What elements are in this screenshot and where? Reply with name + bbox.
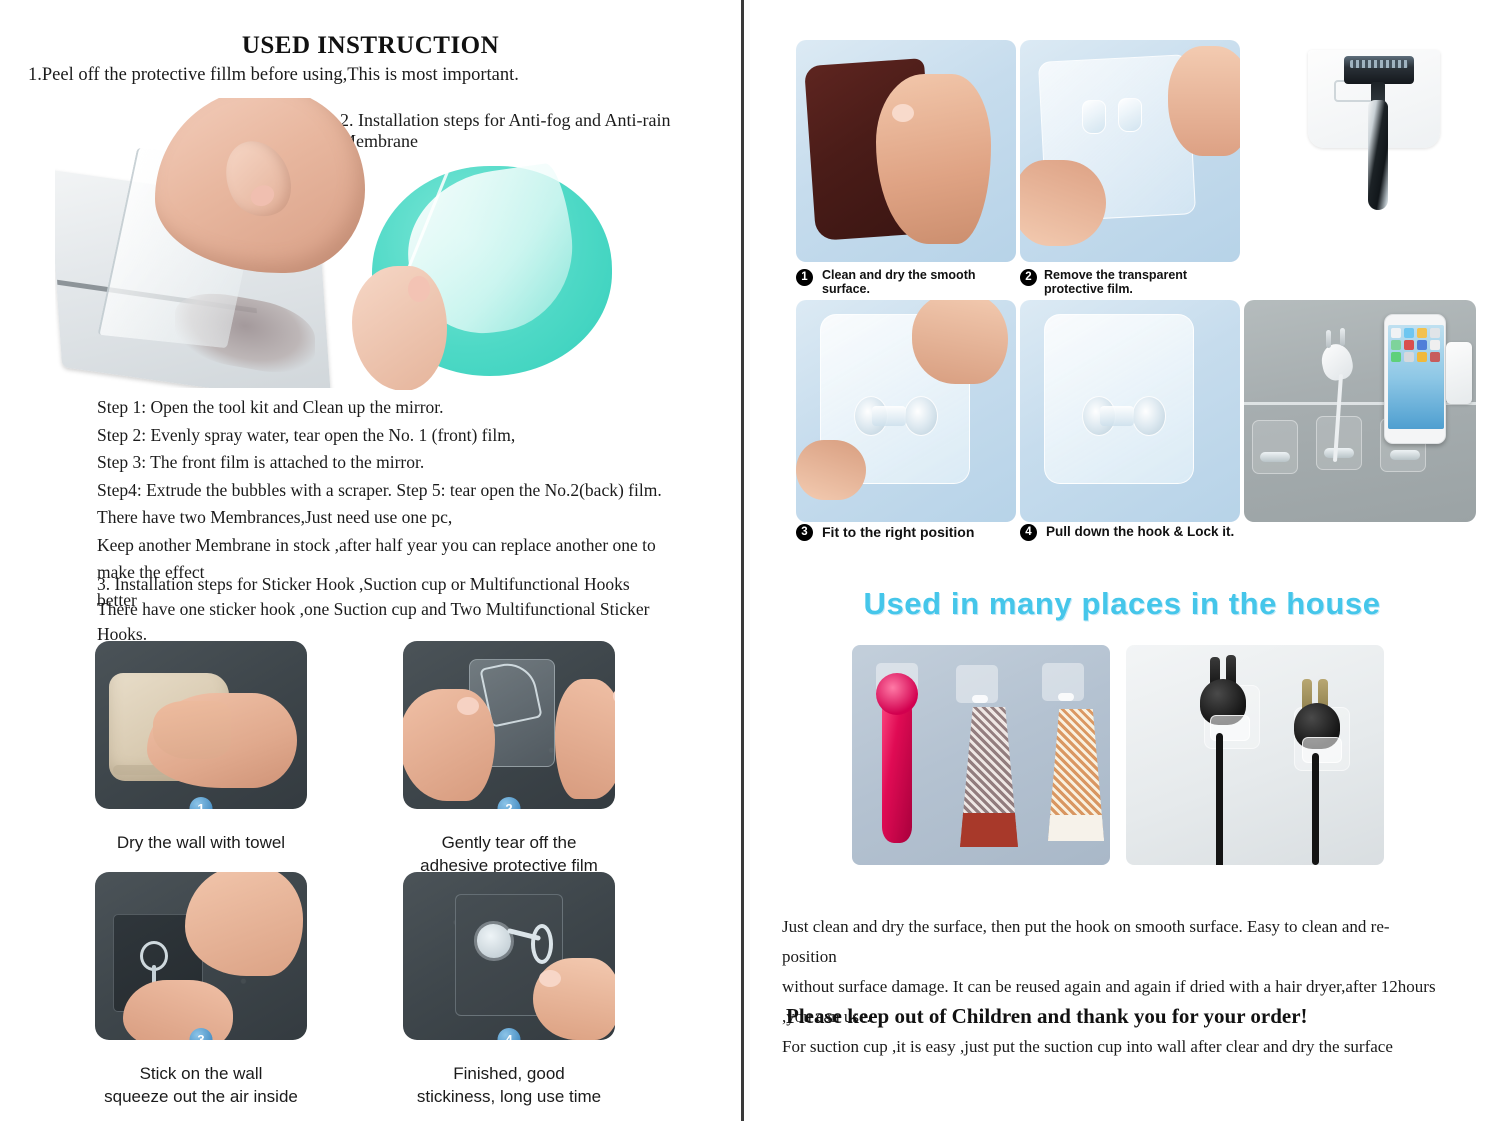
step-caption: Fit to the right position xyxy=(822,525,1012,539)
hand-upper xyxy=(185,872,303,976)
section3-heading: 3. Installation steps for Sticker Hook ,… xyxy=(97,572,657,647)
instruction-sheet: USED INSTRUCTION 1.Peel off the protecti… xyxy=(0,0,1500,1121)
caption-line: squeeze out the air inside xyxy=(95,1085,307,1108)
intro-line: 1.Peel off the protective fillm before u… xyxy=(28,65,519,86)
mini-hook xyxy=(1058,693,1074,701)
photo-dry-wall: 1 xyxy=(95,641,307,809)
razor-handle xyxy=(1368,100,1388,210)
page-title: USED INSTRUCTION xyxy=(0,32,741,60)
step-line: There have two Membrances,Just need use … xyxy=(97,504,697,532)
hand-holding-membrane xyxy=(352,266,447,390)
photo-razor-hook xyxy=(1256,40,1476,262)
hand-left xyxy=(403,689,495,801)
fingernail xyxy=(539,970,561,987)
step-caption: Gently tear off the adhesive protective … xyxy=(403,831,615,877)
app-icon xyxy=(1430,352,1440,362)
wall-socket xyxy=(1446,342,1472,404)
fingernail xyxy=(247,182,277,210)
caption-line: Dry the wall with towel xyxy=(95,831,307,854)
hook-ring xyxy=(531,924,553,964)
caption-line: protective film. xyxy=(1044,282,1214,296)
razor-head xyxy=(1344,56,1414,84)
app-icon xyxy=(1404,340,1414,350)
app-icon xyxy=(1430,328,1440,338)
suction-bar xyxy=(872,406,906,426)
app-icon xyxy=(1430,340,1440,350)
step-caption: Finished, good stickiness, long use time xyxy=(403,1062,615,1108)
fingernail xyxy=(613,687,615,705)
hand-right xyxy=(555,679,615,799)
hand-lower xyxy=(1020,160,1106,246)
step-caption: Clean and dry the smooth surface. xyxy=(822,268,982,296)
step-caption: Dry the wall with towel xyxy=(95,831,307,854)
caption-line: Gently tear off the xyxy=(403,831,615,854)
hanging-towel xyxy=(960,707,1018,847)
photo-tear-film: 2 xyxy=(403,641,615,809)
step-line: Step4: Extrude the bubbles with a scrape… xyxy=(97,477,697,505)
plug-prong xyxy=(1340,328,1345,346)
photo-teal-membrane xyxy=(352,158,642,390)
step-badge: 3 xyxy=(796,524,813,541)
usage-paragraph: Just clean and dry the surface, then put… xyxy=(782,912,1442,1062)
step-badge: 1 xyxy=(190,797,213,809)
finger-upper xyxy=(912,300,1008,384)
fingernail xyxy=(892,104,914,122)
step-line: Step 3: The front film is attached to th… xyxy=(97,449,697,477)
app-grid xyxy=(1391,328,1441,362)
caption-line: Finished, good xyxy=(403,1062,615,1085)
hand xyxy=(876,74,991,244)
mini-hook xyxy=(972,695,988,703)
app-icon xyxy=(1404,328,1414,338)
photo-finished-hook: 4 xyxy=(403,872,615,1040)
hand-peeling xyxy=(155,98,365,273)
closing-note: Please keep out of Children and thank yo… xyxy=(786,1004,1308,1029)
hook-base xyxy=(477,924,511,958)
wall-hook-pad xyxy=(1252,420,1298,474)
step-line: Step 1: Open the tool kit and Clean up t… xyxy=(97,394,697,422)
caption-line: Clean and dry the smooth xyxy=(822,268,982,282)
caption-line: Remove the transparent xyxy=(1044,268,1214,282)
suction-cup xyxy=(1132,396,1166,436)
step-caption: Remove the transparent protective film. xyxy=(1044,268,1214,296)
app-icon xyxy=(1391,328,1401,338)
caption-line: surface. xyxy=(822,282,982,296)
power-cord xyxy=(1312,753,1319,865)
step-line: Step 2: Evenly spray water, tear open th… xyxy=(97,422,697,450)
app-icon xyxy=(1417,352,1427,362)
step-badge: 2 xyxy=(1020,269,1037,286)
caption-line: Pull down the hook & Lock it. xyxy=(1046,525,1276,539)
hook-step-1: 1 Dry the wall with towel xyxy=(95,641,307,854)
section3-line: 3. Installation steps for Sticker Hook ,… xyxy=(97,572,657,597)
step-badge: 4 xyxy=(1020,524,1037,541)
brush-head xyxy=(876,673,918,715)
step-badge: 1 xyxy=(796,269,813,286)
photo-cord-usage xyxy=(1126,645,1384,865)
app-icon xyxy=(1391,340,1401,350)
wall-hook xyxy=(1390,450,1420,460)
suction-cup xyxy=(904,396,938,436)
app-icon xyxy=(1417,328,1427,338)
paragraph-line: For suction cup ,it is easy ,just put th… xyxy=(782,1032,1442,1062)
smartphone xyxy=(1384,314,1446,444)
hand-upper xyxy=(1168,46,1240,156)
step-badge: 2 xyxy=(498,797,521,809)
thumb xyxy=(213,131,302,228)
fingers xyxy=(153,701,231,759)
app-icon xyxy=(1391,352,1401,362)
step-badge: 4 xyxy=(498,1028,521,1040)
section2-heading: 2. Installation steps for Anti-fog and A… xyxy=(340,110,741,152)
photo-lock-hook xyxy=(1020,300,1240,522)
phone-screen xyxy=(1388,325,1444,429)
app-icon xyxy=(1404,352,1414,362)
photo-mirror-peel xyxy=(55,98,365,388)
fingernail xyxy=(408,276,430,302)
hand-lower xyxy=(123,980,233,1040)
suction-bar xyxy=(1100,406,1134,426)
step-caption: Pull down the hook & Lock it. xyxy=(1046,525,1276,539)
wall-hook xyxy=(1324,448,1354,458)
paragraph-line: Just clean and dry the surface, then put… xyxy=(782,912,1442,972)
step-caption: Stick on the wall squeeze out the air in… xyxy=(95,1062,307,1108)
cord-holder xyxy=(1302,737,1342,763)
usage-headline: Used in many places in the house xyxy=(744,586,1500,622)
plug-prong xyxy=(1326,330,1331,348)
caption-line: stickiness, long use time xyxy=(403,1085,615,1108)
photo-remove-film xyxy=(1020,40,1240,262)
hook-knob xyxy=(1082,100,1106,134)
photo-fit-position xyxy=(796,300,1016,522)
wall-hook xyxy=(1260,452,1290,462)
photo-bathroom-usage xyxy=(852,645,1110,865)
fingernail xyxy=(457,697,479,715)
app-icon xyxy=(1417,340,1427,350)
caption-line: Stick on the wall xyxy=(95,1062,307,1085)
photo-wall-usage xyxy=(1244,300,1476,522)
hook-step-4: 4 Finished, good stickiness, long use ti… xyxy=(403,872,615,1108)
photo-clean-surface xyxy=(796,40,1016,262)
suction-sticker xyxy=(1044,314,1194,484)
hook-step-2: 2 Gently tear off the adhesive protectiv… xyxy=(403,641,615,877)
photo-stick-wall: 3 xyxy=(95,872,307,1040)
finger xyxy=(533,958,615,1040)
section3-line: There have one sticker hook ,one Suction… xyxy=(97,597,657,622)
hanging-towel xyxy=(1048,709,1104,841)
hook-knob xyxy=(1118,98,1142,132)
finger-lower xyxy=(796,440,866,500)
left-panel: USED INSTRUCTION 1.Peel off the protecti… xyxy=(0,0,741,1121)
power-cord xyxy=(1216,733,1223,865)
hook-step-3: 3 Stick on the wall squeeze out the air … xyxy=(95,872,307,1108)
caption-line: Fit to the right position xyxy=(822,525,1012,539)
